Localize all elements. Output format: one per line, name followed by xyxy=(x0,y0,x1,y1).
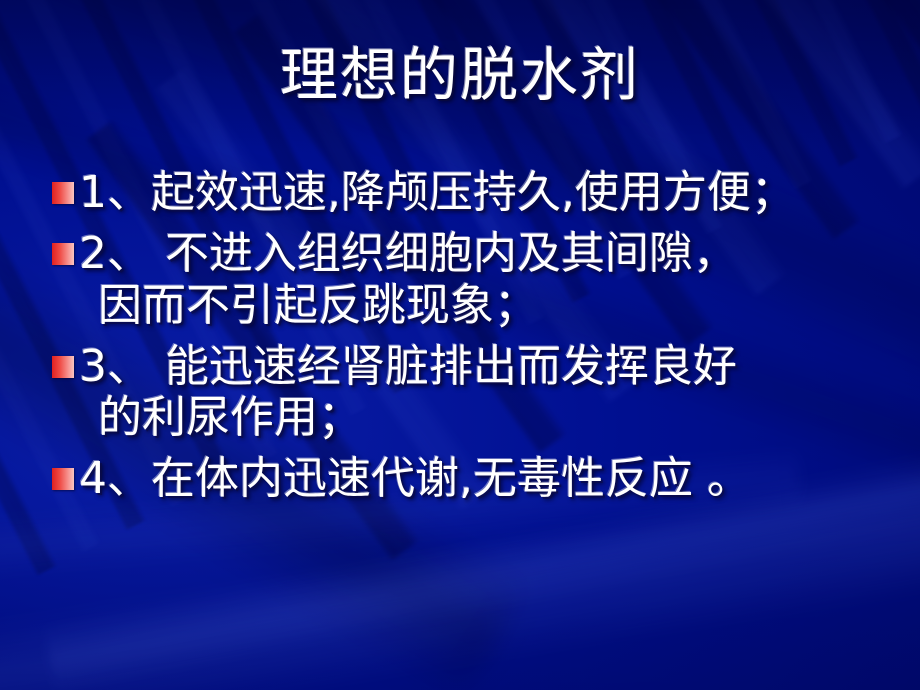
list-item-text: 4、在体内迅速代谢,无毒性反应 。 xyxy=(79,454,908,503)
red-square-bullet-icon xyxy=(52,468,74,490)
bullet-list: 1、起效迅速,降颅压持久,使用方便； 2、 不进入组织细胞内及其间隙， 因而不引… xyxy=(52,168,908,506)
slide-title: 理想的脱水剂 xyxy=(0,46,920,104)
list-item: 4、在体内迅速代谢,无毒性反应 。 xyxy=(52,454,908,503)
list-item-text: 3、 能迅速经肾脏排出而发挥良好 xyxy=(79,342,908,391)
list-item-continuation: 因而不引起反跳现象； xyxy=(52,281,908,330)
list-item-text: 1、起效迅速,降颅压持久,使用方便； xyxy=(79,168,908,217)
list-item: 2、 不进入组织细胞内及其间隙， xyxy=(52,229,908,278)
red-square-bullet-icon xyxy=(52,356,74,378)
red-square-bullet-icon xyxy=(52,243,74,265)
red-square-bullet-icon xyxy=(52,182,74,204)
presentation-slide: 理想的脱水剂 1、起效迅速,降颅压持久,使用方便； 2、 不进入组织细胞内及其间… xyxy=(0,0,920,690)
slide-content: 理想的脱水剂 1、起效迅速,降颅压持久,使用方便； 2、 不进入组织细胞内及其间… xyxy=(0,0,920,690)
list-item-text: 的利尿作用； xyxy=(98,393,908,442)
list-item-continuation: 的利尿作用； xyxy=(52,393,908,442)
list-item-text: 2、 不进入组织细胞内及其间隙， xyxy=(79,229,908,278)
list-item: 1、起效迅速,降颅压持久,使用方便； xyxy=(52,168,908,217)
list-item: 3、 能迅速经肾脏排出而发挥良好 xyxy=(52,342,908,391)
list-item-text: 因而不引起反跳现象； xyxy=(98,281,908,330)
